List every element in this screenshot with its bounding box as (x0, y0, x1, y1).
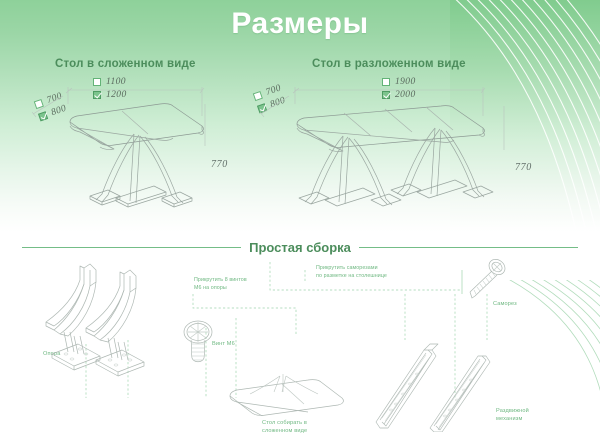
option-row: 1900 (382, 75, 416, 88)
assembly-section-header: Простая сборка (0, 240, 600, 255)
divider-right (359, 247, 578, 248)
option-label: 1100 (106, 77, 126, 87)
checkbox-checked-icon[interactable] (93, 91, 101, 99)
assembly-title: Простая сборка (249, 240, 351, 255)
checkbox-checked-icon[interactable] (257, 103, 267, 113)
pedestal-legs-drawing (22, 262, 192, 398)
checkbox-unchecked-icon[interactable] (93, 78, 101, 86)
note-screw-top: Прикрутить саморезами по разметке на сто… (316, 265, 426, 280)
width-options-folded[interactable]: 1100 1200 (93, 75, 127, 101)
checkbox-checked-icon[interactable] (38, 111, 48, 121)
section-caption-unfolded: Стол в разложенном виде (312, 58, 466, 70)
tabletop-folded-drawing (222, 368, 352, 416)
option-row: 1100 (93, 75, 127, 88)
checkbox-checked-icon[interactable] (382, 91, 390, 99)
section-caption-folded: Стол в сложенном виде (55, 58, 196, 70)
self-tapping-screw-drawing (464, 258, 508, 302)
part-label-assemble-folded: Стол собирать в сложенном виде (262, 419, 342, 435)
width-options-unfolded[interactable]: 1900 2000 (382, 75, 416, 101)
height-label-folded: 770 (211, 159, 228, 170)
part-label-self-screw: Саморез (493, 300, 517, 308)
part-label-bolt: Винт М6 (212, 340, 235, 348)
option-label: 1900 (395, 77, 416, 87)
height-label-unfolded: 770 (515, 162, 532, 173)
extension-mechanism-drawing (372, 336, 500, 432)
dimensions-infographic-page: Размеры Стол в сложенном виде 1100 1200 … (0, 0, 600, 440)
option-label: 2000 (395, 90, 416, 100)
checkbox-unchecked-icon[interactable] (382, 78, 390, 86)
checkbox-unchecked-icon[interactable] (34, 98, 44, 108)
page-title: Размеры (0, 7, 600, 41)
option-row: 1200 (93, 88, 127, 101)
option-label: 1200 (106, 90, 127, 100)
divider-left (22, 247, 241, 248)
note-screw-legs: Прикрутить 8 винтов М6 на опоры (194, 277, 274, 292)
part-label-leg: Опора (43, 350, 60, 358)
part-label-mechanism: Раздвижной механизм (496, 407, 576, 423)
option-row: 2000 (382, 88, 416, 101)
checkbox-unchecked-icon[interactable] (253, 90, 263, 100)
